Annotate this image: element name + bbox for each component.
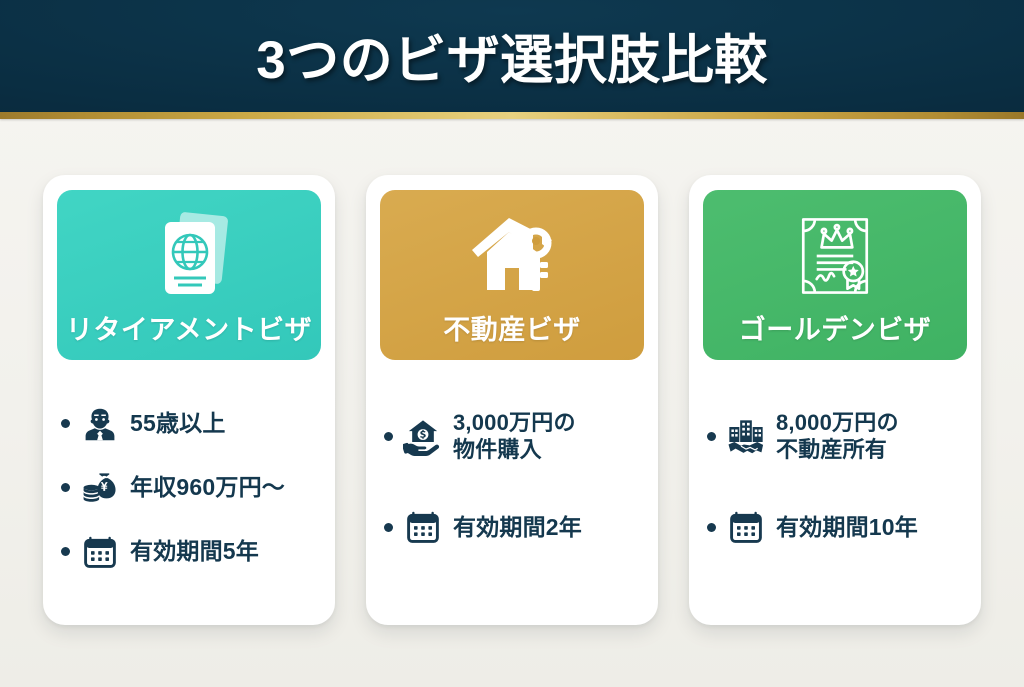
header-accent-bar bbox=[0, 112, 1024, 119]
infographic-page: 3つのビザ選択肢比較 bbox=[0, 0, 1024, 687]
feature-item: 有効期間5年 bbox=[61, 532, 317, 572]
buildings-handshake-icon bbox=[726, 417, 766, 457]
feature-label: 55歳以上 bbox=[130, 409, 226, 437]
feature-label: 有効期間2年 bbox=[453, 513, 582, 541]
money-bag-coins-icon bbox=[80, 468, 120, 508]
passport-globe-icon bbox=[143, 206, 235, 306]
visa-cards-row: リタイアメントビザ 55歳以上 bbox=[43, 175, 981, 625]
house-key-icon bbox=[462, 206, 562, 306]
feature-item: 55歳以上 bbox=[61, 404, 317, 444]
feature-label: 8,000万円の不動産所有 bbox=[776, 410, 899, 464]
feature-item: 3,000万円の物件購入 bbox=[384, 410, 640, 464]
feature-label-line2: 不動産所有 bbox=[776, 437, 887, 462]
page-title: 3つのビザ選択肢比較 bbox=[0, 0, 1024, 112]
card-title-golden: ゴールデンビザ bbox=[739, 308, 932, 347]
certificate-crown-icon bbox=[792, 206, 878, 306]
card-header-real-estate: 不動産ビザ bbox=[380, 190, 644, 360]
feature-item: 年収960万円〜 bbox=[61, 468, 317, 508]
feature-label: 有効期間5年 bbox=[130, 537, 259, 565]
feature-label-line1: 3,000万円の bbox=[453, 410, 576, 435]
bullet-dot bbox=[707, 432, 716, 441]
card-header-golden: ゴールデンビザ bbox=[703, 190, 967, 360]
card-header-retirement: リタイアメントビザ bbox=[57, 190, 321, 360]
bullet-dot bbox=[707, 523, 716, 532]
visa-card-golden[interactable]: ゴールデンビザ bbox=[689, 175, 981, 625]
visa-card-real-estate[interactable]: 不動産ビザ 3,000万円の物件購入 bbox=[366, 175, 658, 625]
feature-item: 有効期間2年 bbox=[384, 507, 640, 547]
calendar-icon bbox=[403, 507, 443, 547]
feature-list-retirement: 55歳以上 年 bbox=[57, 360, 321, 625]
card-title-retirement: リタイアメントビザ bbox=[66, 308, 312, 347]
card-title-real-estate: 不動産ビザ bbox=[443, 308, 581, 347]
bullet-dot bbox=[61, 547, 70, 556]
feature-label: 有効期間10年 bbox=[776, 513, 918, 541]
feature-label-line2: 物件購入 bbox=[453, 437, 542, 462]
feature-label: 3,000万円の物件購入 bbox=[453, 410, 576, 464]
elderly-person-icon bbox=[80, 404, 120, 444]
feature-item: 有効期間10年 bbox=[707, 507, 963, 547]
feature-list-real-estate: 3,000万円の物件購入 bbox=[380, 360, 644, 625]
feature-label: 年収960万円〜 bbox=[130, 473, 285, 501]
calendar-icon bbox=[80, 532, 120, 572]
bullet-dot bbox=[61, 419, 70, 428]
page-header: 3つのビザ選択肢比較 bbox=[0, 0, 1024, 112]
visa-card-retirement[interactable]: リタイアメントビザ 55歳以上 bbox=[43, 175, 335, 625]
feature-label-line1: 8,000万円の bbox=[776, 410, 899, 435]
calendar-icon bbox=[726, 507, 766, 547]
feature-list-golden: 8,000万円の不動産所有 bbox=[703, 360, 967, 625]
bullet-dot bbox=[384, 432, 393, 441]
feature-item: 8,000万円の不動産所有 bbox=[707, 410, 963, 464]
bullet-dot bbox=[384, 523, 393, 532]
hand-house-dollar-icon bbox=[403, 417, 443, 457]
bullet-dot bbox=[61, 483, 70, 492]
